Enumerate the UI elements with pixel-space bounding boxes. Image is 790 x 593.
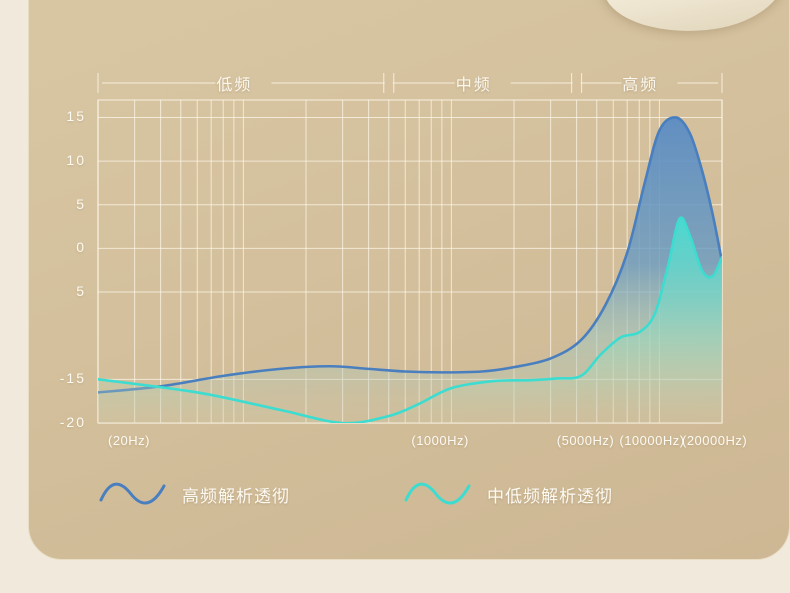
x-tick-label: (20000Hz)	[682, 433, 747, 448]
legend-label: 中低频解析透彻	[487, 482, 613, 507]
series-group	[98, 117, 722, 423]
x-tick-label: (20Hz)	[108, 433, 150, 448]
y-tick-label: 10	[40, 152, 86, 168]
screenshot-root: 低频 中频 高频	[0, 0, 790, 593]
legend-label: 高频解析透彻	[182, 482, 290, 507]
x-tick-label: (5000Hz)	[557, 433, 614, 448]
y-tick-label: 5	[40, 196, 86, 212]
y-tick-label: 15	[40, 108, 86, 124]
x-tick-label: (1000Hz)	[411, 433, 468, 448]
y-tick-label: -20	[40, 414, 86, 430]
x-tick-label: (10000Hz)	[619, 433, 684, 448]
y-tick-label: -15	[40, 370, 86, 386]
legend-wave-icon	[403, 478, 473, 510]
band-separator-rules	[98, 73, 722, 93]
y-tick-label: 0	[40, 239, 86, 255]
frequency-response-chart: 低频 中频 高频	[0, 0, 790, 593]
legend-wave-icon	[98, 478, 168, 510]
y-tick-label: 5	[40, 283, 86, 299]
legend-item[interactable]: 高频解析透彻	[98, 478, 290, 510]
legend-item[interactable]: 中低频解析透彻	[403, 478, 613, 510]
